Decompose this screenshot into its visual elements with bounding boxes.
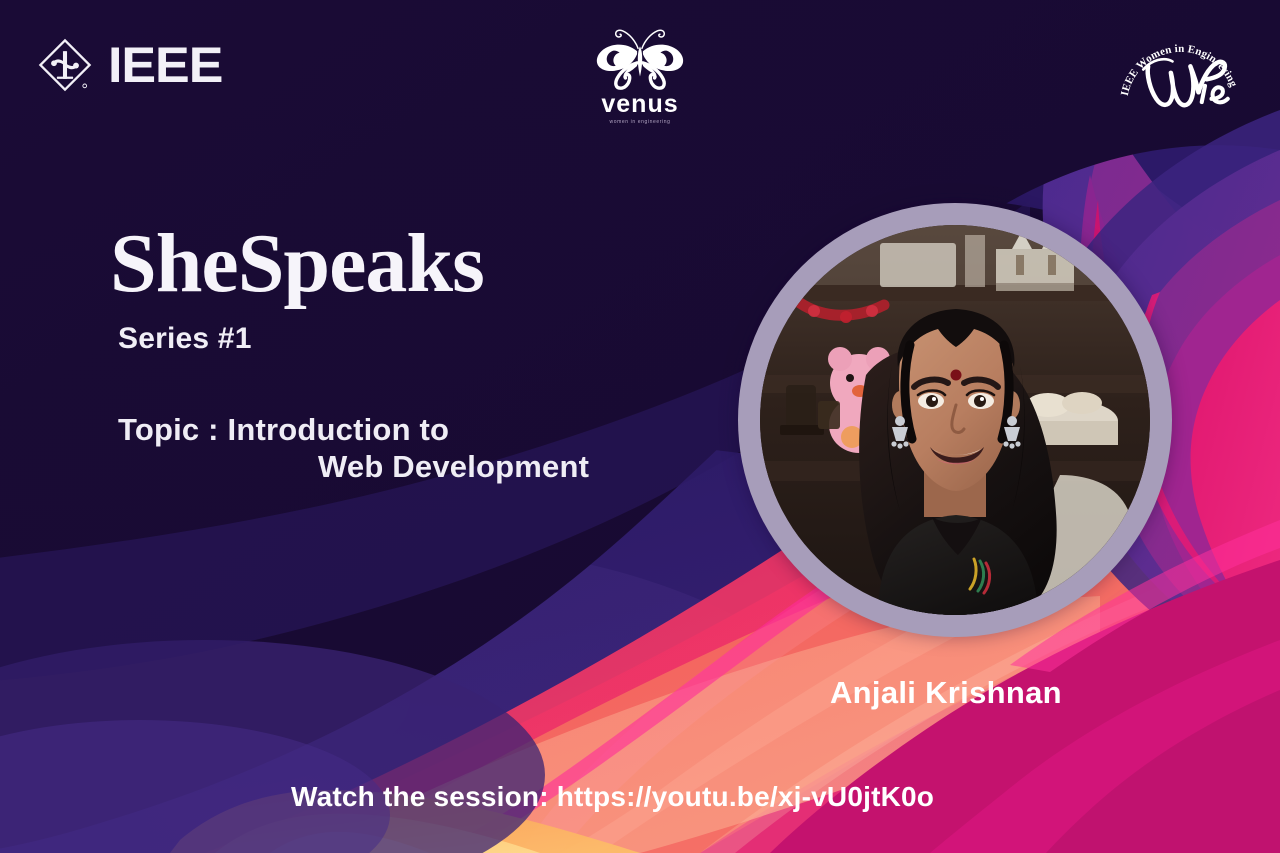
poster-canvas: IEEE <box>0 0 1280 853</box>
speaker-photo <box>760 225 1150 615</box>
wie-logo: IEEE Women in Engineering <box>1114 24 1244 120</box>
topic-text: Topic : Introduction to Web Development <box>118 412 589 485</box>
avatar <box>738 203 1172 637</box>
venus-wordmark: venus <box>601 92 678 117</box>
watch-session-link[interactable]: Watch the session: https://youtu.be/xj-v… <box>291 781 934 813</box>
venus-subtitle: women in engineering <box>610 119 671 125</box>
butterfly-icon <box>585 26 695 94</box>
venus-logo: venus women in engineering <box>0 26 1280 125</box>
avatar-frame <box>760 225 1150 615</box>
topic-line-1: Topic : Introduction to <box>118 412 449 447</box>
speaker-name: Anjali Krishnan <box>830 675 1062 711</box>
wie-monogram <box>1143 59 1228 105</box>
topic-line-2: Web Development <box>118 449 589 486</box>
series-label: Series #1 <box>118 322 252 356</box>
page-title: SheSpeaks <box>110 222 484 306</box>
